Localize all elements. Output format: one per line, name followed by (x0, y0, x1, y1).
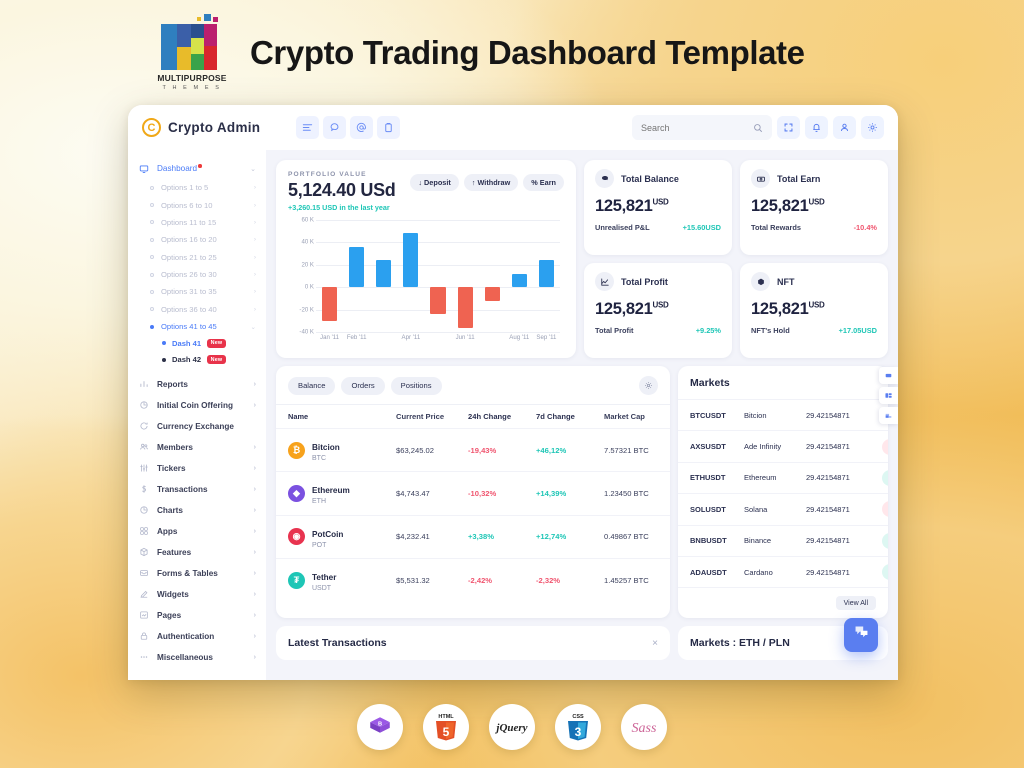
topbar-right (632, 115, 884, 140)
dollar-icon (138, 484, 150, 494)
chart-y-tick: 0 K (305, 284, 314, 291)
col-header-name: Name (288, 412, 396, 421)
pie-chart-icon (138, 400, 150, 410)
chevron-right-icon: › (254, 612, 256, 619)
chart-x-tick: Jun '11 (452, 334, 479, 341)
sidebar-item-label: Apps (157, 527, 247, 536)
coin-symbol: BTC (312, 455, 340, 463)
sidebar-item-transactions[interactable]: Transactions › (128, 479, 266, 500)
stat-unit: USD (653, 301, 669, 310)
bullet-icon (150, 238, 154, 242)
page-title: Crypto Trading Dashboard Template (250, 34, 805, 72)
table-row[interactable]: ₮TetherUSDT$5,531.32-2,42%-2,32%1.45257 … (276, 558, 670, 601)
app-window: C Crypto Admin (128, 105, 898, 680)
chevron-down-icon: ⌄ (251, 323, 256, 331)
chart-bar (458, 287, 473, 327)
sidebar-item-label: Tickers (157, 464, 247, 473)
promo-header: MULTIPURPOSE T H E M E S Crypto Trading … (152, 14, 805, 91)
portfolio-bar-chart: 60 K40 K20 K0 K-20 K-40 K Jan '11Feb '11… (288, 220, 564, 350)
tech-badges: B HTML 5 jQuery CSS 3 Sass (0, 704, 1024, 750)
search-input[interactable] (641, 123, 747, 133)
balance-tabs: Balance Orders Positions (276, 366, 670, 404)
pie-chart-icon (138, 505, 150, 515)
table-header: Name Current Price 24h Change 7d Change … (276, 404, 670, 428)
chart-x-tick: Feb '11 (343, 334, 370, 341)
sidebar-item-charts[interactable]: Charts › (128, 500, 266, 521)
cell-market-cap: 7.57321 BTC (604, 446, 658, 455)
chart-bar-column (424, 220, 451, 332)
grid-icon (138, 526, 150, 536)
view-all-button[interactable]: View All (836, 596, 876, 610)
chart-bar-column (343, 220, 370, 332)
chart-bar (322, 287, 337, 321)
diamond-icon (751, 272, 770, 291)
line-chart-icon (595, 272, 614, 291)
bullet-icon (150, 255, 154, 259)
stat-card-total-earn: Total Earn 125,821USD Total Rewards -10.… (740, 160, 888, 255)
logo-mark-icon (161, 14, 223, 70)
stat-foot-value: -10.4% (854, 223, 877, 232)
stat-cards: Total Balance 125,821USD Unrealised P&L … (584, 160, 888, 358)
sidebar-subitem-options-26-30[interactable]: Options 26 to 30 › (128, 266, 266, 283)
sidebar-subitem-options-16-20[interactable]: Options 16 to 20 › (128, 231, 266, 248)
fullscreen-icon[interactable] (777, 116, 800, 139)
main-content: PORTFOLIO VALUE 5,124.40 USd +3,260.15 U… (266, 150, 898, 680)
chart-gridline (316, 332, 560, 333)
market-trend-badge: ↑ (882, 470, 888, 486)
sidebar-item-members[interactable]: Members › (128, 437, 266, 458)
chart-x-tick: Sep '11 (533, 334, 560, 341)
sidebar-subitem-dash-42[interactable]: Dash 42 New (128, 352, 266, 368)
html5-icon: HTML 5 (423, 704, 469, 750)
sidebar-item-widgets[interactable]: Widgets › (128, 584, 266, 605)
market-price: 29.42154871 (806, 411, 882, 420)
coin-name: Bitcion (312, 443, 340, 452)
chart-x-tick (479, 334, 506, 341)
monitor-icon (138, 164, 150, 174)
bottom-row: Latest Transactions × Markets : ETH / PL… (276, 626, 888, 660)
market-name: Bitcion (744, 411, 806, 420)
logo-tagline: T H E M E S (162, 85, 221, 91)
cell-current-price: $63,245.02 (396, 446, 468, 455)
stat-unit: USD (809, 301, 825, 310)
cell-current-price: $5,531.32 (396, 576, 468, 585)
coin-symbol: USDT (312, 585, 336, 593)
chart-y-tick: -20 K (299, 306, 314, 313)
stat-card-nft: NFT 125,821USD NFT's Hold +17.05USD (740, 263, 888, 358)
bullet-icon (150, 186, 154, 190)
chart-bar-column (533, 220, 560, 332)
chart-bar (485, 287, 500, 300)
cash-icon (751, 169, 770, 188)
market-trend-badge: ↓ (882, 439, 888, 455)
stat-value: 125,821USD (751, 300, 877, 319)
cell-24h-change: -19,43% (468, 446, 536, 455)
stat-title: Total Earn (777, 174, 820, 184)
market-price: 29.42154871 (806, 536, 882, 545)
pencil-icon (138, 589, 150, 599)
layout-icon[interactable] (879, 387, 898, 404)
search-icon[interactable] (753, 123, 763, 133)
chart-bar (430, 287, 445, 314)
cell-market-cap: 0.49867 BTC (604, 532, 658, 541)
col-header-current-price: Current Price (396, 412, 468, 421)
market-symbol: AXSUSDT (690, 442, 744, 451)
chart-y-tick: 20 K (301, 261, 314, 268)
stat-value: 125,821USD (751, 197, 877, 216)
market-symbol: BTCUSDT (690, 411, 744, 420)
sidebar-item-label: Miscellaneous (157, 653, 247, 662)
sidebar-item-label: Authentication (157, 632, 247, 641)
chevron-right-icon: › (254, 591, 256, 598)
portfolio-actions: ↓ Deposit ↑ Withdraw % Earn (410, 171, 564, 191)
sidebar-subitem-options-11-15[interactable]: Options 11 to 15 › (128, 214, 266, 231)
wallet-icon (595, 169, 614, 188)
col-header-market-cap: Market Cap (604, 412, 658, 421)
chevron-right-icon: › (254, 654, 256, 661)
sidebar-item-label: Features (157, 548, 247, 557)
stat-value: 125,821USD (595, 300, 721, 319)
stat-value: 125,821USD (595, 197, 721, 216)
market-row[interactable]: BNBUSDTBinance29.42154871↑ (678, 525, 888, 556)
market-row[interactable]: ETHUSDTEthereum29.42154871↑ (678, 462, 888, 493)
sidebar-item-label: Charts (157, 506, 247, 515)
sidebar-item-miscellaneous[interactable]: Miscellaneous › (128, 647, 266, 668)
svg-text:3: 3 (575, 725, 582, 739)
bootstrap-icon: B (357, 704, 403, 750)
jquery-icon: jQuery (489, 704, 535, 750)
lock-icon (138, 631, 150, 641)
sidebar-subitem-label: Dash 42 (172, 355, 201, 364)
market-price: 29.42154871 (806, 473, 882, 482)
market-symbol: ADAUSDT (690, 568, 744, 577)
chevron-right-icon: › (254, 465, 256, 472)
cell-7d-change: +12,74% (536, 532, 604, 541)
chart-bar-column (452, 220, 479, 332)
page-icon (138, 610, 150, 620)
chevron-right-icon: › (254, 570, 256, 577)
app-body: Dashboard ⌄ Options 1 to 5 › Options 6 t… (128, 150, 898, 680)
chevron-right-icon: › (254, 271, 256, 278)
stat-foot-value: +17.05USD (839, 326, 877, 335)
markets-pair-title: Markets : ETH / PLN (690, 637, 790, 649)
stat-title: NFT (777, 277, 795, 287)
new-badge: New (207, 339, 226, 348)
col-header-24h-change: 24h Change (468, 412, 536, 421)
sidebar-item-dashboard[interactable]: Dashboard ⌄ (128, 158, 266, 179)
box-icon (138, 547, 150, 557)
latest-transactions-card: Latest Transactions × (276, 626, 670, 660)
bullet-icon (150, 203, 154, 207)
chart-y-tick: 60 K (301, 217, 314, 224)
sidebar-subitem-label: Options 1 to 5 (161, 183, 247, 192)
cell-name: ◉PotCoinPOT (288, 524, 396, 550)
market-price: 29.42154871 (806, 505, 882, 514)
sidebar-subitem-label: Options 16 to 20 (161, 235, 247, 244)
stat-foot-label: Total Profit (595, 326, 633, 335)
chart-bar-column (397, 220, 424, 332)
chevron-right-icon: › (254, 202, 256, 209)
sass-icon: Sass (621, 704, 667, 750)
cell-market-cap: 1.23450 BTC (604, 489, 658, 498)
chat-support-icon (853, 624, 870, 646)
chevron-right-icon: › (254, 306, 256, 313)
chart-x-tick (424, 334, 451, 341)
chart-y-tick: 40 K (301, 239, 314, 246)
people-icon (138, 442, 150, 452)
cell-current-price: $4,743.47 (396, 489, 468, 498)
chart-plot-area (316, 220, 560, 332)
side-dock (879, 367, 898, 424)
market-row[interactable]: SOLUSDTSolana29.42154871↓ (678, 493, 888, 524)
chevron-right-icon: › (254, 444, 256, 451)
col-header-7d-change: 7d Change (536, 412, 604, 421)
sidebar-item-tickers[interactable]: Tickers › (128, 458, 266, 479)
refresh-icon (138, 421, 150, 431)
sidebar-subitem-label: Options 6 to 10 (161, 201, 247, 210)
market-price: 29.42154871 (806, 568, 882, 577)
chevron-right-icon: › (254, 507, 256, 514)
sidebar-subitem-options-31-35[interactable]: Options 31 to 35 › (128, 283, 266, 300)
screen-icon[interactable] (879, 367, 898, 384)
notification-dot (198, 164, 202, 168)
chat-support-fab[interactable] (844, 618, 878, 652)
tab-orders[interactable]: Orders (341, 377, 384, 395)
sidebar-item-authentication[interactable]: Authentication › (128, 626, 266, 647)
markets-card: Markets BTCUSDTBitcion29.42154871↑AXSUSD… (678, 366, 888, 618)
sidebar-subitem-options-36-40[interactable]: Options 36 to 40 › (128, 301, 266, 318)
sliders-icon (138, 463, 150, 473)
chart-bar-column (316, 220, 343, 332)
coin-symbol: POT (312, 542, 343, 550)
stat-title: Total Balance (621, 174, 679, 184)
chevron-down-icon: ⌄ (250, 165, 256, 173)
sidebar-item-label: Widgets (157, 590, 247, 599)
cell-7d-change: +14,39% (536, 489, 604, 498)
sidebar-item-label: Transactions (157, 485, 247, 494)
stat-title: Total Profit (621, 277, 668, 287)
portfolio-label: PORTFOLIO VALUE (288, 171, 395, 178)
brand-logo-icon: C (142, 118, 161, 137)
latest-transactions-title: Latest Transactions (288, 637, 387, 649)
gear-icon[interactable] (639, 376, 658, 395)
cell-market-cap: 1.45257 BTC (604, 576, 658, 585)
market-price: 29.42154871 (806, 442, 882, 451)
svg-text:HTML: HTML (438, 714, 454, 720)
cell-7d-change: -2,32% (536, 576, 604, 585)
bullet-icon (150, 290, 154, 294)
sidebar-item-apps[interactable]: Apps › (128, 521, 266, 542)
stat-card-total-profit: Total Profit 125,821USD Total Profit +9.… (584, 263, 732, 358)
sidebar-subitem-options-6-10[interactable]: Options 6 to 10 › (128, 196, 266, 213)
chevron-right-icon: › (254, 528, 256, 535)
withdraw-button[interactable]: ↑ Withdraw (464, 174, 518, 191)
cell-name: ₿BitcionBTC (288, 437, 396, 463)
stat-foot-label: Total Rewards (751, 223, 801, 232)
sidebar-subitem-label: Options 21 to 25 (161, 253, 247, 262)
coin-name: PotCoin (312, 530, 343, 539)
table-row[interactable]: ◉PotCoinPOT$4,232.41+3,38%+12,74%0.49867… (276, 515, 670, 558)
stat-foot-value: +15.60USD (683, 223, 721, 232)
svg-text:5: 5 (443, 725, 450, 739)
bullet-icon (150, 307, 154, 311)
tab-balance[interactable]: Balance (288, 377, 335, 395)
market-row[interactable]: ADAUSDTCardano29.42154871↑ (678, 556, 888, 587)
dots-icon (138, 652, 150, 662)
cell-name: ◆EthereumETH (288, 480, 396, 506)
cell-name: ₮TetherUSDT (288, 567, 396, 593)
chart-x-tick: Apr '11 (397, 334, 424, 341)
stat-card-total-balance: Total Balance 125,821USD Unrealised P&L … (584, 160, 732, 255)
sidebar-subitem-dash-41[interactable]: Dash 41 New (128, 335, 266, 351)
multipurpose-themes-logo: MULTIPURPOSE T H E M E S (152, 14, 232, 91)
bullet-icon (150, 220, 154, 224)
chevron-right-icon: › (254, 184, 256, 191)
sidebar-subitem-label: Dash 41 (172, 339, 201, 348)
bullet-icon (162, 341, 166, 345)
sidebar-item-label: Currency Exchange (157, 422, 249, 431)
topbar-icon-group (296, 116, 400, 139)
chevron-right-icon: › (254, 254, 256, 261)
chevron-right-icon: › (254, 633, 256, 640)
menu-lines-icon[interactable] (296, 116, 319, 139)
coin-symbol: ETH (312, 498, 350, 506)
sidebar-item-currency-exchange[interactable]: Currency Exchange (128, 416, 266, 437)
new-badge: New (207, 355, 226, 364)
chart-y-tick: -40 K (299, 329, 314, 336)
chart-x-tick (370, 334, 397, 341)
markets-footer: View All (678, 587, 888, 618)
cell-24h-change: +3,38% (468, 532, 536, 541)
sidebar-subitem-label: Options 31 to 35 (161, 287, 247, 296)
market-symbol: ETHUSDT (690, 473, 744, 482)
chart-bar-column (370, 220, 397, 332)
market-row[interactable]: AXSUSDTAde Infinity29.42154871↓ (678, 430, 888, 461)
cell-24h-change: -2,42% (468, 576, 536, 585)
stat-unit: USD (809, 198, 825, 207)
svg-text:Sass: Sass (632, 721, 657, 736)
sidebar-item-reports[interactable]: Reports › (128, 374, 266, 395)
customizer-icon[interactable] (879, 407, 898, 424)
sidebar-item-pages[interactable]: Pages › (128, 605, 266, 626)
css3-icon: CSS 3 (555, 704, 601, 750)
stat-foot-value: +9.25% (696, 326, 721, 335)
market-name: Ade Infinity (744, 442, 806, 451)
chevron-right-icon: › (254, 381, 256, 388)
sidebar-subitem-options-41-45[interactable]: Options 41 to 45 ⌄ (128, 318, 266, 335)
sidebar-item-label: Reports (157, 380, 247, 389)
market-name: Solana (744, 505, 806, 514)
chart-bar (376, 260, 391, 287)
tab-positions[interactable]: Positions (391, 377, 442, 395)
chart-bar (349, 247, 364, 287)
earn-button[interactable]: % Earn (523, 174, 564, 191)
chart-bar (512, 274, 527, 287)
chart-bar-column (506, 220, 533, 332)
cell-7d-change: +46,12% (536, 446, 604, 455)
chevron-right-icon: › (254, 288, 256, 295)
svg-text:CSS: CSS (572, 714, 584, 720)
market-name: Cardano (744, 568, 806, 577)
cell-current-price: $4,232.41 (396, 532, 468, 541)
sidebar-subitem-label: Options 41 to 45 (161, 322, 244, 331)
sidebar-item-label: Members (157, 443, 247, 452)
sidebar-subitem-options-21-25[interactable]: Options 21 to 25 › (128, 249, 266, 266)
balance-table-card: Balance Orders Positions Name Current Pr… (276, 366, 670, 618)
bullet-icon (150, 325, 154, 329)
coin-icon: ◉ (288, 528, 305, 545)
stat-unit: USD (653, 198, 669, 207)
coin-icon: ₮ (288, 572, 305, 589)
market-symbol: SOLUSDT (690, 505, 744, 514)
search-box[interactable] (632, 115, 772, 140)
sidebar-subitem-label: Options 36 to 40 (161, 305, 247, 314)
coin-icon: ₿ (288, 442, 305, 459)
sidebar-subitem-options-1-5[interactable]: Options 1 to 5 › (128, 179, 266, 196)
bell-icon[interactable] (805, 116, 828, 139)
chart-y-axis: 60 K40 K20 K0 K-20 K-40 K (288, 220, 314, 332)
sidebar-item-label: Pages (157, 611, 247, 620)
table-row[interactable]: ◆EthereumETH$4,743.47-10,32%+14,39%1.234… (276, 471, 670, 514)
sidebar-item-label: Forms & Tables (157, 569, 247, 578)
chevron-right-icon: › (254, 219, 256, 226)
clipboard-icon[interactable] (377, 116, 400, 139)
sidebar-item-forms-tables[interactable]: Forms & Tables › (128, 563, 266, 584)
chat-bubble-icon[interactable] (323, 116, 346, 139)
deposit-button[interactable]: ↓ Deposit (410, 174, 458, 191)
portfolio-value: 5,124.40 USd (288, 180, 395, 201)
chart-bar-column (479, 220, 506, 332)
chart-x-tick: Jan '11 (316, 334, 343, 341)
sidebar[interactable]: Dashboard ⌄ Options 1 to 5 › Options 6 t… (128, 150, 266, 680)
brand[interactable]: C Crypto Admin (142, 118, 280, 137)
close-icon[interactable]: × (652, 638, 658, 649)
cell-24h-change: -10,32% (468, 489, 536, 498)
middle-row: Balance Orders Positions Name Current Pr… (276, 358, 888, 618)
chart-bar (539, 260, 554, 287)
market-name: Binance (744, 536, 806, 545)
chart-x-tick: Aug '11 (506, 334, 533, 341)
markets-title: Markets (678, 366, 888, 399)
app-topbar: C Crypto Admin (128, 105, 898, 150)
gear-icon[interactable] (861, 116, 884, 139)
svg-text:B: B (378, 721, 382, 727)
chevron-right-icon: › (254, 486, 256, 493)
top-row: PORTFOLIO VALUE 5,124.40 USd +3,260.15 U… (276, 160, 888, 358)
chart-bar (403, 233, 418, 287)
sidebar-item-initial-coin-offering[interactable]: Initial Coin Offering › (128, 395, 266, 416)
bullet-icon (150, 273, 154, 277)
market-trend-badge: ↑ (882, 533, 888, 549)
stat-foot-label: Unrealised P&L (595, 223, 650, 232)
market-trend-badge: ↓ (882, 501, 888, 517)
portfolio-delta: +3,260.15 USD in the last year (288, 203, 395, 212)
chart-x-axis: Jan '11Feb '11Apr '11Jun '11Aug '11Sep '… (316, 334, 560, 341)
market-row[interactable]: BTCUSDTBitcion29.42154871↑ (678, 399, 888, 430)
at-mention-icon[interactable] (350, 116, 373, 139)
coin-name: Tether (312, 573, 336, 582)
brand-name: Crypto Admin (168, 120, 260, 135)
user-icon[interactable] (833, 116, 856, 139)
market-name: Ethereum (744, 473, 806, 482)
sidebar-item-features[interactable]: Features › (128, 542, 266, 563)
chevron-right-icon: › (254, 549, 256, 556)
market-trend-badge: ↑ (882, 564, 888, 580)
table-row[interactable]: ₿BitcionBTC$63,245.02-19,43%+46,12%7.573… (276, 428, 670, 471)
inbox-icon (138, 568, 150, 578)
chevron-right-icon: › (254, 402, 256, 409)
svg-text:jQuery: jQuery (494, 722, 527, 734)
